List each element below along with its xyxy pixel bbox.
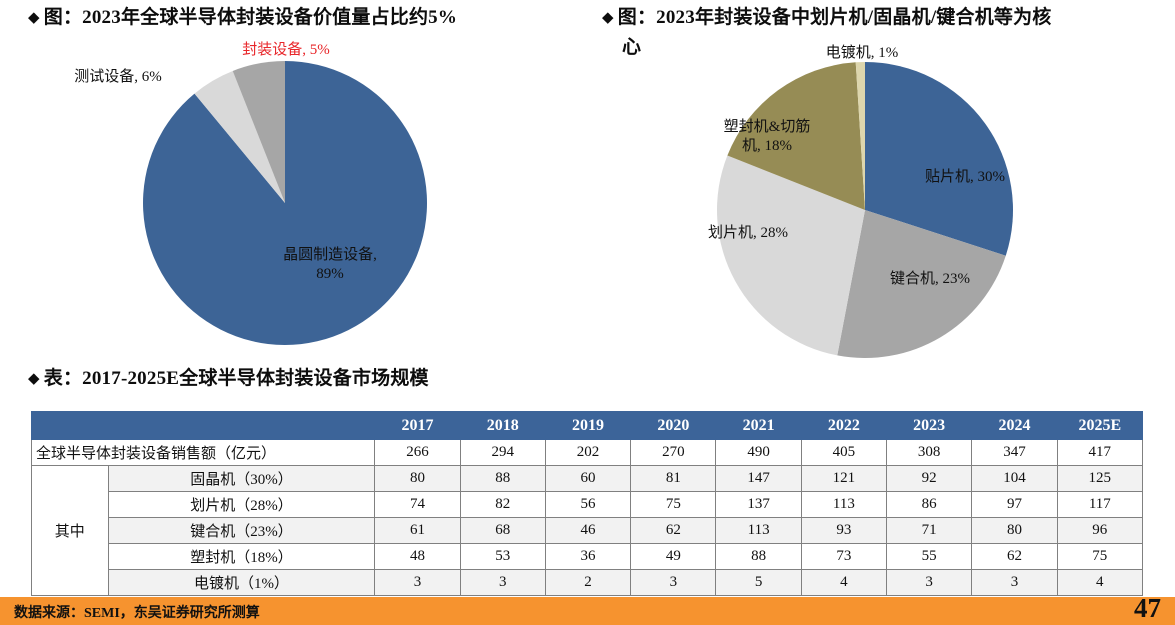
table-cell: 88 <box>716 544 801 570</box>
table-cell: 53 <box>460 544 545 570</box>
table-cell: 61 <box>375 518 460 544</box>
table-cell: 93 <box>801 518 886 544</box>
table-header-2017: 2017 <box>375 412 460 440</box>
table-header-2018: 2018 <box>460 412 545 440</box>
table-cell: 62 <box>631 518 716 544</box>
pie-label-wafer-equipment: 晶圆制造设备,89% <box>240 246 420 284</box>
table-row: 塑封机（18%） 48 53 36 49 88 73 55 62 75 <box>32 544 1143 570</box>
table-cell: 46 <box>545 518 630 544</box>
table-cell: 5 <box>716 570 801 596</box>
pie-label-wafer-equipment-line2: 89% <box>316 266 344 282</box>
pie-chart-equipment-value-share: 封装设备, 5% 测试设备, 6% 晶圆制造设备,89% <box>0 48 580 368</box>
table-cell: 75 <box>631 492 716 518</box>
table-cell: 74 <box>375 492 460 518</box>
table-cell: 60 <box>545 466 630 492</box>
table-cell: 3 <box>375 570 460 596</box>
bullet-diamond-icon: ◆ <box>28 10 40 26</box>
left-chart-title: ◆图：2023年全球半导体封装设备价值量占比约5% <box>28 3 588 33</box>
table-header-2020: 2020 <box>631 412 716 440</box>
table-cell: 88 <box>460 466 545 492</box>
table-header-row: 2017 2018 2019 2020 2021 2022 2023 2024 … <box>32 412 1143 440</box>
pie-label-wire-bonder: 键合机, 23% <box>850 270 1010 289</box>
table-cell: 48 <box>375 544 460 570</box>
table-cell: 73 <box>801 544 886 570</box>
table-cell: 104 <box>972 466 1057 492</box>
table-cell: 68 <box>460 518 545 544</box>
pie-slice-wafer-equipment <box>143 61 427 345</box>
table-cell: 4 <box>1057 570 1142 596</box>
table-cell: 117 <box>1057 492 1142 518</box>
table-cell: 75 <box>1057 544 1142 570</box>
data-source-note: 数据来源：SEMI，东吴证券研究所测算 <box>14 602 260 622</box>
table-row: 划片机（28%） 74 82 56 75 137 113 86 97 117 <box>32 492 1143 518</box>
footer-bar: 数据来源：SEMI，东吴证券研究所测算 47 <box>0 597 1175 625</box>
pie-right-svg <box>600 48 1175 368</box>
table-cell: 80 <box>375 466 460 492</box>
table-cell: 3 <box>631 570 716 596</box>
table-cell: 405 <box>801 440 886 466</box>
table-cell: 125 <box>1057 466 1142 492</box>
pie-label-testing-equipment: 测试设备, 6% <box>28 68 208 87</box>
table-cell: 113 <box>716 518 801 544</box>
table-header-2019: 2019 <box>545 412 630 440</box>
pie-label-die-attach: 贴片机, 30% <box>885 168 1045 187</box>
table-cell: 4 <box>801 570 886 596</box>
pie-label-molding-trim: 塑封机&切筋机, 18% <box>700 118 834 156</box>
table-cell: 137 <box>716 492 801 518</box>
table-cell: 36 <box>545 544 630 570</box>
table-cell: 121 <box>801 466 886 492</box>
table-header-2025e: 2025E <box>1057 412 1142 440</box>
table-row: 键合机（23%） 61 68 46 62 113 93 71 80 96 <box>32 518 1143 544</box>
bullet-diamond-icon: ◆ <box>602 10 614 26</box>
table-cell: 3 <box>972 570 1057 596</box>
table-cell: 62 <box>972 544 1057 570</box>
table-cell: 86 <box>887 492 972 518</box>
pie-chart-packaging-breakdown: 电镀机, 1% 贴片机, 30% 键合机, 23% 划片机, 28% 塑封机&切… <box>600 48 1175 368</box>
table-cell: 347 <box>972 440 1057 466</box>
table-header-2024: 2024 <box>972 412 1057 440</box>
bullet-diamond-icon: ◆ <box>28 371 40 387</box>
table-cell: 294 <box>460 440 545 466</box>
table-header-2023: 2023 <box>887 412 972 440</box>
table-cell: 92 <box>887 466 972 492</box>
table-row-label: 固晶机（30%） <box>108 466 375 492</box>
page-number: 47 <box>1134 593 1161 624</box>
table-cell: 308 <box>887 440 972 466</box>
table-cell: 2 <box>545 570 630 596</box>
table-cell: 113 <box>801 492 886 518</box>
table-row-total: 全球半导体封装设备销售额（亿元） 266 294 202 270 490 405… <box>32 440 1143 466</box>
table-row-label: 键合机（23%） <box>108 518 375 544</box>
table-header-2022: 2022 <box>801 412 886 440</box>
pie-label-dicer: 划片机, 28% <box>668 224 828 243</box>
table-cell: 80 <box>972 518 1057 544</box>
table-row-label-total: 全球半导体封装设备销售额（亿元） <box>32 440 375 466</box>
table-row-label: 塑封机（18%） <box>108 544 375 570</box>
pie-label-molding-trim-line1: 塑封机&切筋 <box>724 119 811 135</box>
table-cell: 96 <box>1057 518 1142 544</box>
table-row: 其中 固晶机（30%） 80 88 60 81 147 121 92 104 1… <box>32 466 1143 492</box>
table-cell: 71 <box>887 518 972 544</box>
table-row-label: 划片机（28%） <box>108 492 375 518</box>
pie-label-packaging-equipment: 封装设备, 5% <box>196 41 376 60</box>
table-cell: 270 <box>631 440 716 466</box>
table-cell: 3 <box>460 570 545 596</box>
table-row-label: 电镀机（1%） <box>108 570 375 596</box>
table-cell: 202 <box>545 440 630 466</box>
table-cell: 56 <box>545 492 630 518</box>
table-cell: 147 <box>716 466 801 492</box>
table-header-corner <box>32 412 375 440</box>
pie-label-molding-trim-line2: 机, 18% <box>742 138 792 154</box>
table-cell: 49 <box>631 544 716 570</box>
table-cell: 266 <box>375 440 460 466</box>
table-group-label: 其中 <box>32 466 109 596</box>
table-title-text: 表：2017-2025E全球半导体封装设备市场规模 <box>44 368 429 389</box>
pie-label-plating: 电镀机, 1% <box>772 44 952 63</box>
table-cell: 490 <box>716 440 801 466</box>
left-chart-title-text: 图：2023年全球半导体封装设备价值量占比约5% <box>44 7 457 28</box>
table-title: ◆表：2017-2025E全球半导体封装设备市场规模 <box>28 364 728 394</box>
table-cell: 417 <box>1057 440 1142 466</box>
table-cell: 97 <box>972 492 1057 518</box>
table-cell: 55 <box>887 544 972 570</box>
table-cell: 82 <box>460 492 545 518</box>
pie-label-wafer-equipment-line1: 晶圆制造设备, <box>283 247 377 263</box>
table-cell: 81 <box>631 466 716 492</box>
pie-left-svg <box>0 48 580 368</box>
table-row: 电镀机（1%） 3 3 2 3 5 4 3 3 4 <box>32 570 1143 596</box>
market-size-table: 2017 2018 2019 2020 2021 2022 2023 2024 … <box>31 411 1143 596</box>
table-header-2021: 2021 <box>716 412 801 440</box>
right-chart-title-text-line1: 图：2023年封装设备中划片机/固晶机/键合机等为核 <box>618 7 1052 28</box>
table-cell: 3 <box>887 570 972 596</box>
